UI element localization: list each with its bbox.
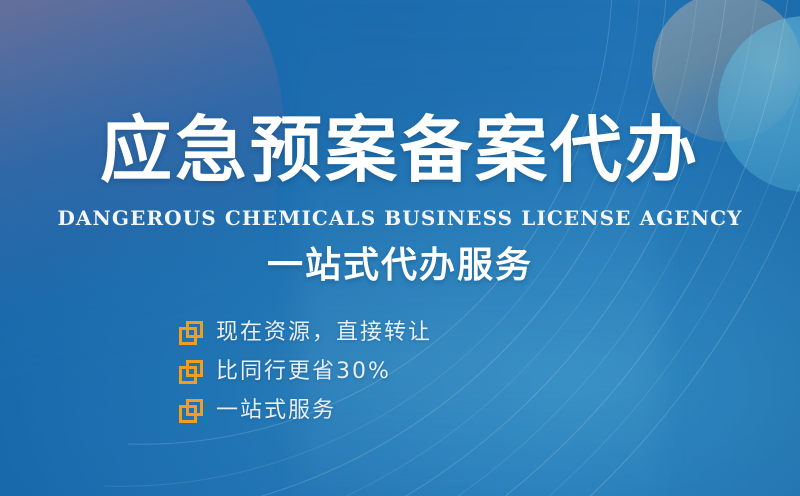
overlapping-squares-icon: [178, 359, 204, 385]
list-item: 一站式服务: [178, 396, 432, 426]
promo-banner: 应急预案备案代办 DANGEROUS CHEMICALS BUSINESS LI…: [0, 0, 800, 496]
subtitle-english: DANGEROUS CHEMICALS BUSINESS LICENSE AGE…: [0, 206, 800, 230]
page-title: 应急预案备案代办: [0, 114, 800, 186]
list-item-label: 一站式服务: [216, 400, 336, 422]
list-item-label: 现在资源，直接转让: [216, 322, 432, 344]
list-item-label: 比同行更省30%: [216, 361, 391, 383]
banner-content: 应急预案备案代办 DANGEROUS CHEMICALS BUSINESS LI…: [0, 0, 800, 496]
subtitle-chinese: 一站式代办服务: [0, 246, 800, 286]
overlapping-squares-icon: [178, 398, 204, 424]
overlapping-squares-icon: [178, 320, 204, 346]
list-item: 现在资源，直接转让: [178, 318, 432, 348]
feature-list: 现在资源，直接转让 比同行更省30% 一站式: [178, 318, 432, 426]
list-item: 比同行更省30%: [178, 357, 432, 387]
